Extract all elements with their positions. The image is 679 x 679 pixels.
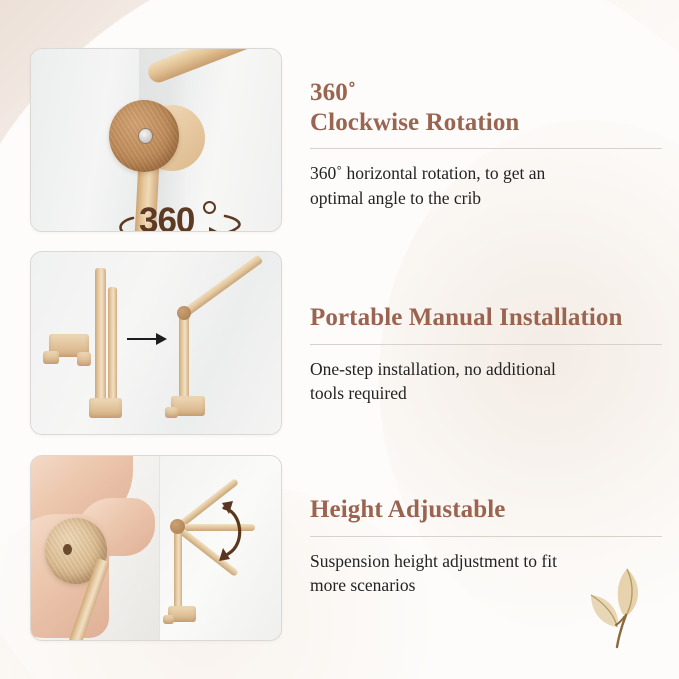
transform-arrow-icon	[127, 338, 165, 340]
assembled-vertical-rod	[179, 314, 189, 399]
diagram-base-foot	[163, 615, 174, 624]
feature-text-1: 360˚ Clockwise Rotation 360˚ horizontal …	[310, 48, 662, 211]
feature-text-2: Portable Manual Installation One-step in…	[310, 251, 662, 406]
diagram-vertical-rod	[174, 530, 182, 608]
feature-row-2: Portable Manual Installation One-step in…	[30, 251, 662, 435]
screw-icon	[138, 128, 153, 144]
diagram-pivot	[170, 519, 185, 534]
feature-body: 360˚ horizontal rotation, to get an opti…	[310, 161, 662, 211]
assembly-steps-photo	[30, 251, 282, 435]
heading-divider	[310, 148, 662, 149]
feature-heading: Portable Manual Installation	[310, 303, 662, 333]
feature-row-3: Height Adjustable Suspension height adju…	[30, 455, 662, 641]
angle-diagram-half	[159, 456, 281, 640]
loose-bracket-foot	[43, 351, 59, 364]
rotation-arrow-icon	[113, 212, 248, 232]
assembled-pivot	[177, 306, 191, 320]
assembled-base-foot	[165, 407, 178, 418]
height-adjust-photo	[30, 455, 282, 641]
feature-row-1: 360 360˚ Clockwise Rotation 360˚ horizon…	[30, 48, 662, 232]
long-rod-b	[108, 287, 117, 401]
leaf-sprig-icon	[577, 565, 655, 649]
rod-base-clamp	[89, 398, 122, 418]
loose-bracket-tab	[77, 352, 91, 366]
long-rod-a	[95, 268, 106, 401]
hand-photo-half	[31, 456, 159, 640]
height-range-arrows-icon	[212, 492, 268, 570]
feature-heading: Height Adjustable	[310, 495, 662, 525]
feature-heading: 360˚ Clockwise Rotation	[310, 78, 662, 137]
infographic-page: 360 360˚ Clockwise Rotation 360˚ horizon…	[0, 0, 679, 679]
heading-divider	[310, 536, 662, 537]
rotating-hub-photo: 360	[30, 48, 282, 232]
heading-divider	[310, 344, 662, 345]
hub-hole	[63, 544, 72, 555]
feature-body: One-step installation, no additional too…	[310, 357, 662, 407]
